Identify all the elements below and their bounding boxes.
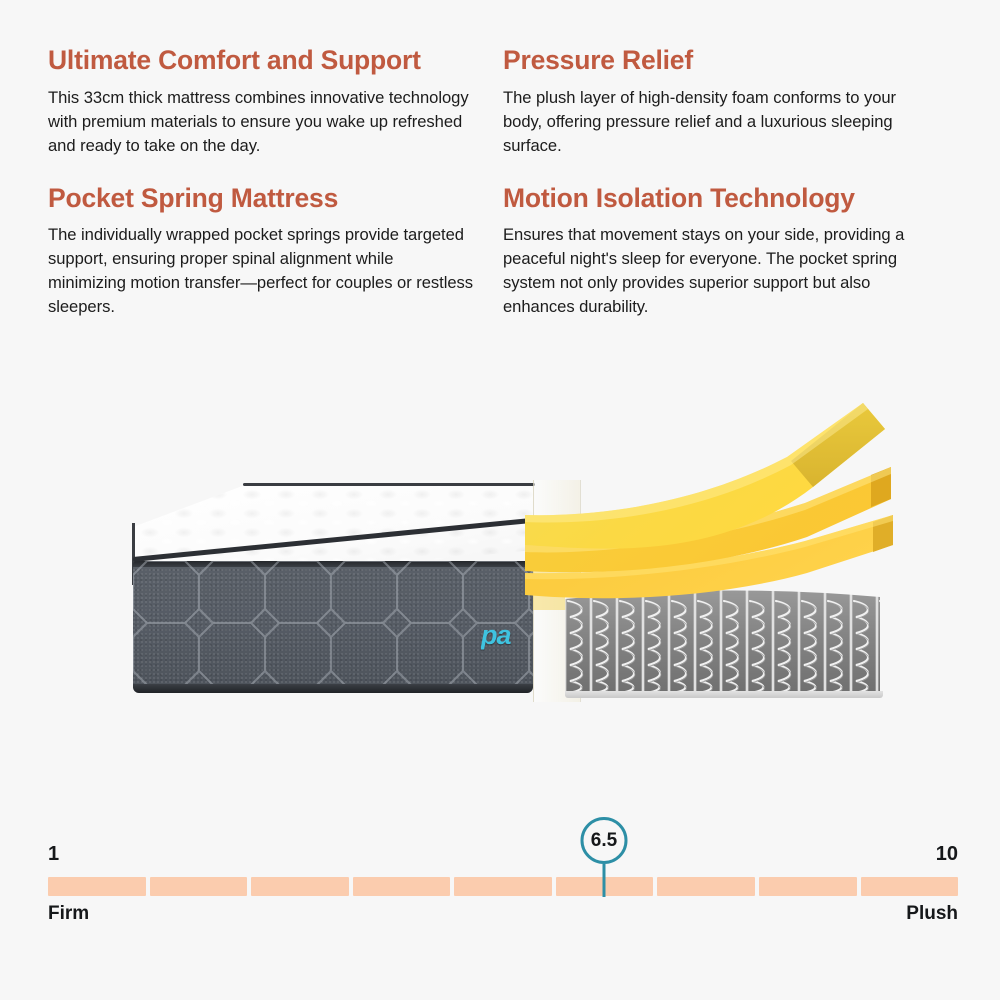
firmness-scale-segment[interactable]	[759, 877, 857, 896]
firmness-scale[interactable]: 1 10 6.5 Firm Plush	[48, 815, 958, 925]
feature-heading: Pocket Spring Mattress	[48, 184, 473, 214]
scale-min-number: 1	[48, 843, 59, 866]
feature-heading: Motion Isolation Technology	[503, 184, 928, 214]
feature-heading: Ultimate Comfort and Support	[48, 46, 473, 76]
brand-logo: pa	[481, 620, 525, 651]
side-panel-bottom-piping	[133, 684, 533, 693]
firmness-scale-segment[interactable]	[150, 877, 248, 896]
coil-base-plate	[565, 691, 883, 698]
product-cutaway-illustration: pa	[0, 395, 1000, 755]
firmness-scale-track[interactable]	[48, 877, 958, 896]
feature-grid: Ultimate Comfort and Support This 33cm t…	[48, 46, 958, 319]
scale-label-plush: Plush	[906, 903, 958, 925]
firmness-scale-segment[interactable]	[556, 877, 654, 896]
mattress-side-panel: pa	[133, 561, 533, 693]
feature-heading: Pressure Relief	[503, 46, 928, 76]
firmness-scale-segment[interactable]	[353, 877, 451, 896]
firmness-scale-segment[interactable]	[454, 877, 552, 896]
feature-body: Ensures that movement stays on your side…	[503, 223, 928, 319]
firmness-scale-segment[interactable]	[251, 877, 349, 896]
firmness-marker: 6.5	[48, 815, 958, 915]
feature-body: The plush layer of high-density foam con…	[503, 86, 928, 158]
firmness-scale-segment[interactable]	[861, 877, 959, 896]
feature-block-motion-isolation: Motion Isolation Technology Ensures that…	[503, 184, 958, 320]
firmness-scale-segment[interactable]	[657, 877, 755, 896]
mattress-body: pa	[133, 485, 533, 700]
feature-body: The individually wrapped pocket springs …	[48, 223, 473, 319]
feature-block-ultimate-comfort: Ultimate Comfort and Support This 33cm t…	[48, 46, 503, 158]
firmness-value-badge: 6.5	[581, 817, 628, 864]
mattress-back-piping	[243, 483, 535, 486]
octagon-quilt-pattern	[133, 561, 533, 693]
scale-label-firm: Firm	[48, 903, 89, 925]
feature-block-pocket-spring: Pocket Spring Mattress The individually …	[48, 184, 503, 320]
feature-block-pressure-relief: Pressure Relief The plush layer of high-…	[503, 46, 958, 158]
product-infographic: Ultimate Comfort and Support This 33cm t…	[0, 0, 1000, 1000]
firmness-scale-segment[interactable]	[48, 877, 146, 896]
scale-max-number: 10	[936, 843, 958, 866]
foam-layer-stack	[555, 395, 895, 635]
feature-body: This 33cm thick mattress combines innova…	[48, 86, 473, 158]
